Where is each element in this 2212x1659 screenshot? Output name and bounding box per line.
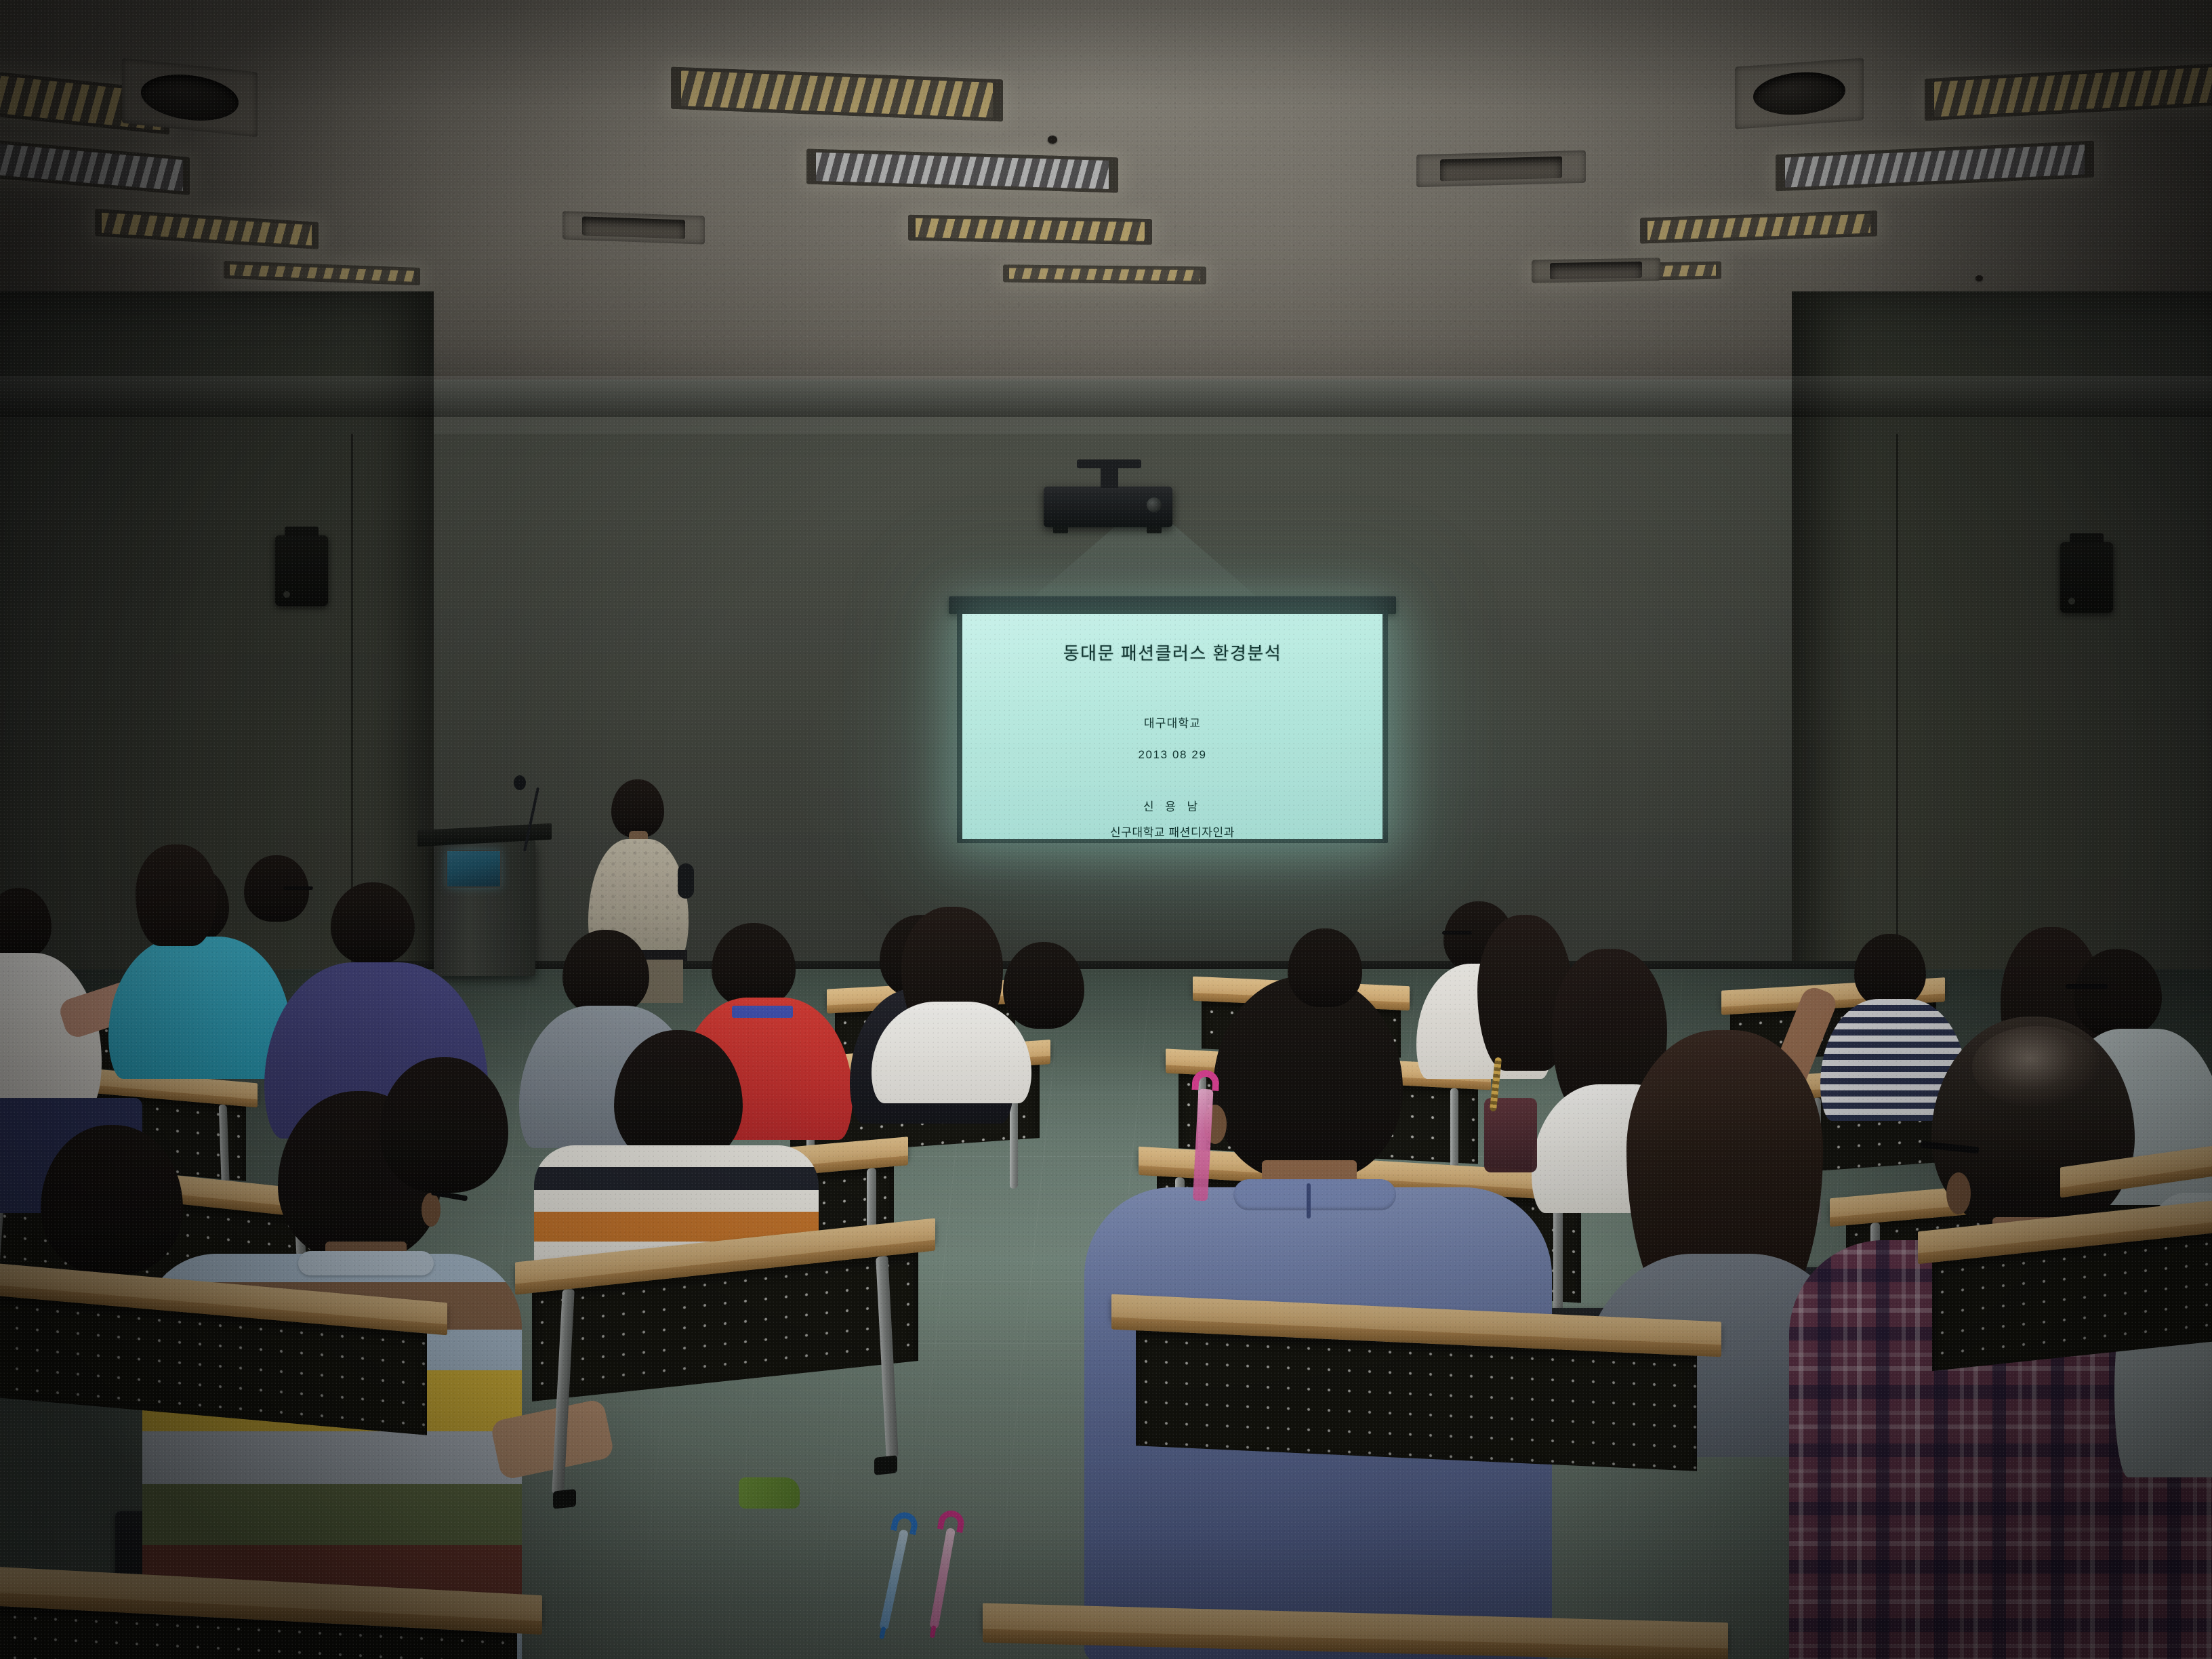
slide-organization: 대구대학교 [1144,714,1201,731]
presenter-laptop [446,850,501,888]
lecture-hall-photo: 동대문 패션클러스 환경분석 대구대학교 2013 08 29 신 용 남 신구… [0,0,2212,1659]
projection-screen: 동대문 패션클러스 환경분석 대구대학교 2013 08 29 신 용 남 신구… [962,614,1382,839]
turquoise-tee [108,937,291,1079]
ceiling-wall-soffit [0,376,2212,417]
white-tee [872,1002,1031,1103]
handheld-microphone [678,863,694,899]
slide-affiliation-1: 신구대학교 패션디자인과 [1110,823,1235,839]
wall-speaker-right [2060,542,2113,613]
slide-title: 동대문 패션클러스 환경분석 [1063,640,1282,665]
slide-date: 2013 08 29 [1138,748,1206,762]
presenter-head [611,779,664,838]
lectern [434,840,535,976]
wall-corner [1896,434,1898,976]
ear [1946,1172,1971,1214]
wall-speaker-left [275,535,328,606]
eyeglasses [2066,984,2108,989]
gooseneck-microphone [514,775,526,790]
ear [422,1193,441,1227]
ceiling-projector [1044,487,1172,527]
shoe [739,1477,800,1509]
slide-author: 신 용 남 [1143,797,1202,814]
eyeglasses [283,886,313,890]
eyeglasses [1442,931,1472,935]
